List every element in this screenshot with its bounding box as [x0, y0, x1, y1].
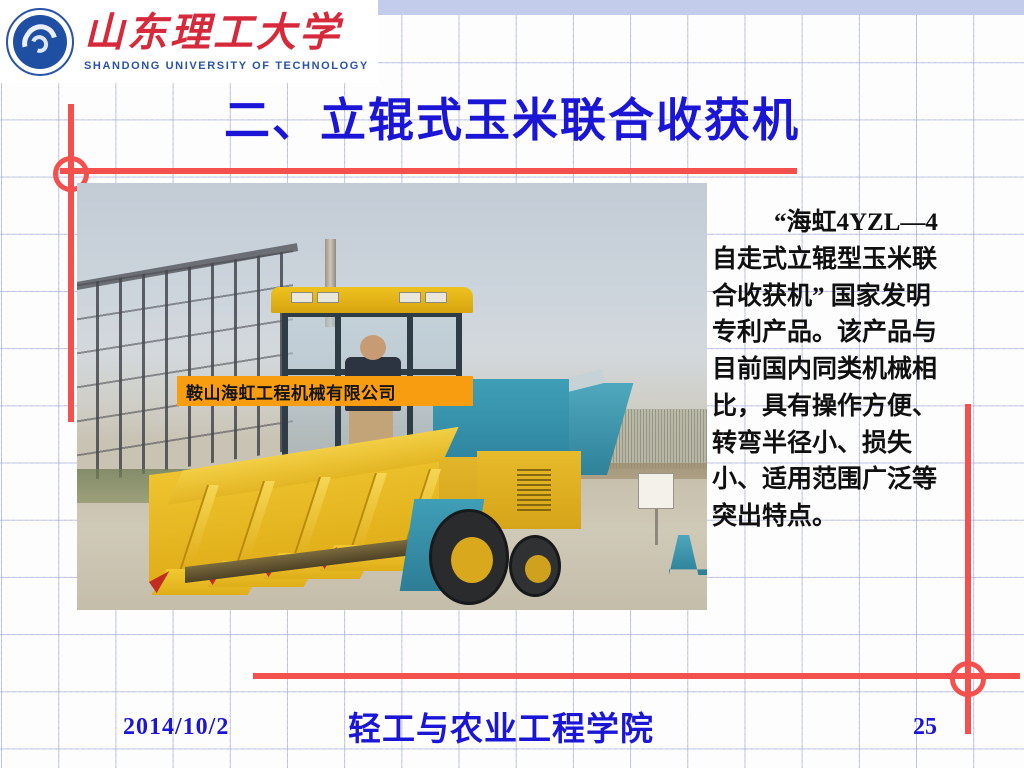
decorative-line-top: [60, 168, 797, 174]
description-paragraph: “海虹4YZL—4自走式立辊型玉米联合收获机” 国家发明专利产品。该产品与目前国…: [712, 205, 944, 536]
decorative-line-left: [68, 104, 74, 422]
engine-grille: [517, 469, 551, 513]
presentation-slide: 山东理工大学 SHANDONG UNIVERSITY OF TECHNOLOGY…: [0, 0, 1024, 768]
university-name-en: SHANDONG UNIVERSITY OF TECHNOLOGY: [84, 60, 369, 72]
university-emblem-icon: [6, 8, 74, 76]
roof-lamp-1: [291, 292, 313, 303]
drive-wheel: [429, 509, 509, 605]
driver-head: [360, 335, 386, 360]
decorative-circle-bottom-right: [950, 661, 986, 697]
footer-organization: 轻工与农业工程学院: [348, 702, 654, 750]
roof-lamp-3: [399, 292, 421, 303]
steer-wheel: [509, 535, 561, 597]
footer-date: 2014/10/2: [123, 714, 229, 741]
roof-lamp-2: [317, 292, 339, 303]
footer-page-number: 25: [913, 714, 937, 741]
row-divider-fin-1: [179, 485, 219, 571]
roof-lamp-4: [425, 292, 447, 303]
harvester-photo: 鞍山海虹工程机械有限公司: [77, 183, 707, 610]
photo-caption-badge: 鞍山海虹工程机械有限公司: [177, 376, 473, 406]
university-logo-text: 山东理工大学 SHANDONG UNIVERSITY OF TECHNOLOGY: [84, 12, 369, 72]
decorative-line-bottom: [253, 673, 1020, 679]
university-name-cn: 山东理工大学: [84, 12, 369, 54]
slide-title: 二、立辊式玉米联合收获机: [0, 96, 1024, 147]
top-blue-band: [375, 0, 1024, 15]
university-logo-banner: 山东理工大学 SHANDONG UNIVERSITY OF TECHNOLOGY: [0, 0, 378, 83]
